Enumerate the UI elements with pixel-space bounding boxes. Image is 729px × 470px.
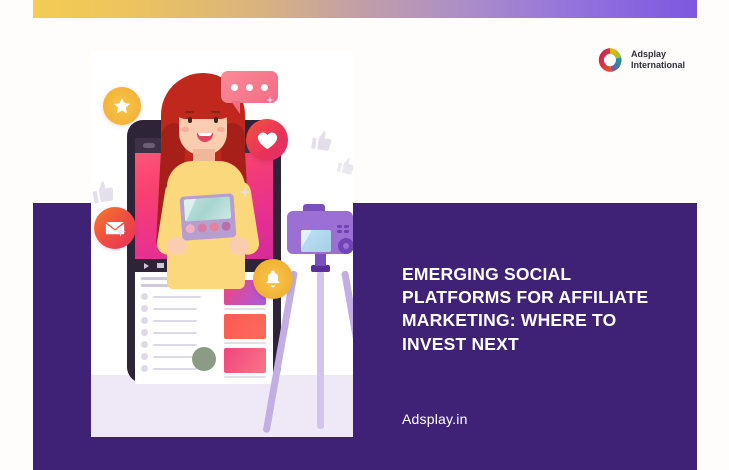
illustration-card bbox=[91, 51, 353, 437]
video-thumbnail bbox=[224, 348, 266, 373]
bell-badge bbox=[253, 259, 293, 299]
website-label: Adsplay.in bbox=[402, 411, 468, 427]
brand-line-1: Adsplay bbox=[631, 49, 685, 61]
thumbs-up-icon bbox=[308, 127, 336, 159]
camera-on-tripod bbox=[279, 199, 353, 437]
ring-logo-icon bbox=[596, 46, 624, 74]
video-thumbnail bbox=[224, 314, 266, 339]
gradient-accent-bar bbox=[33, 0, 697, 18]
camera-icon bbox=[287, 211, 353, 254]
poster-canvas: Adsplay International EMERGING SOCIAL PL… bbox=[0, 0, 729, 470]
phone-home-button bbox=[192, 347, 216, 371]
influencer-character bbox=[147, 69, 267, 309]
thumbs-up-icon bbox=[333, 154, 353, 183]
star-badge bbox=[103, 87, 141, 125]
heart-badge bbox=[246, 119, 288, 161]
envelope-badge bbox=[94, 207, 136, 249]
page-title: EMERGING SOCIAL PLATFORMS FOR AFFILIATE … bbox=[402, 263, 664, 356]
brand-name: Adsplay International bbox=[631, 49, 685, 72]
makeup-palette-prop bbox=[180, 193, 237, 241]
brand-line-2: International bbox=[631, 60, 685, 72]
brand-logo[interactable]: Adsplay International bbox=[596, 46, 685, 74]
